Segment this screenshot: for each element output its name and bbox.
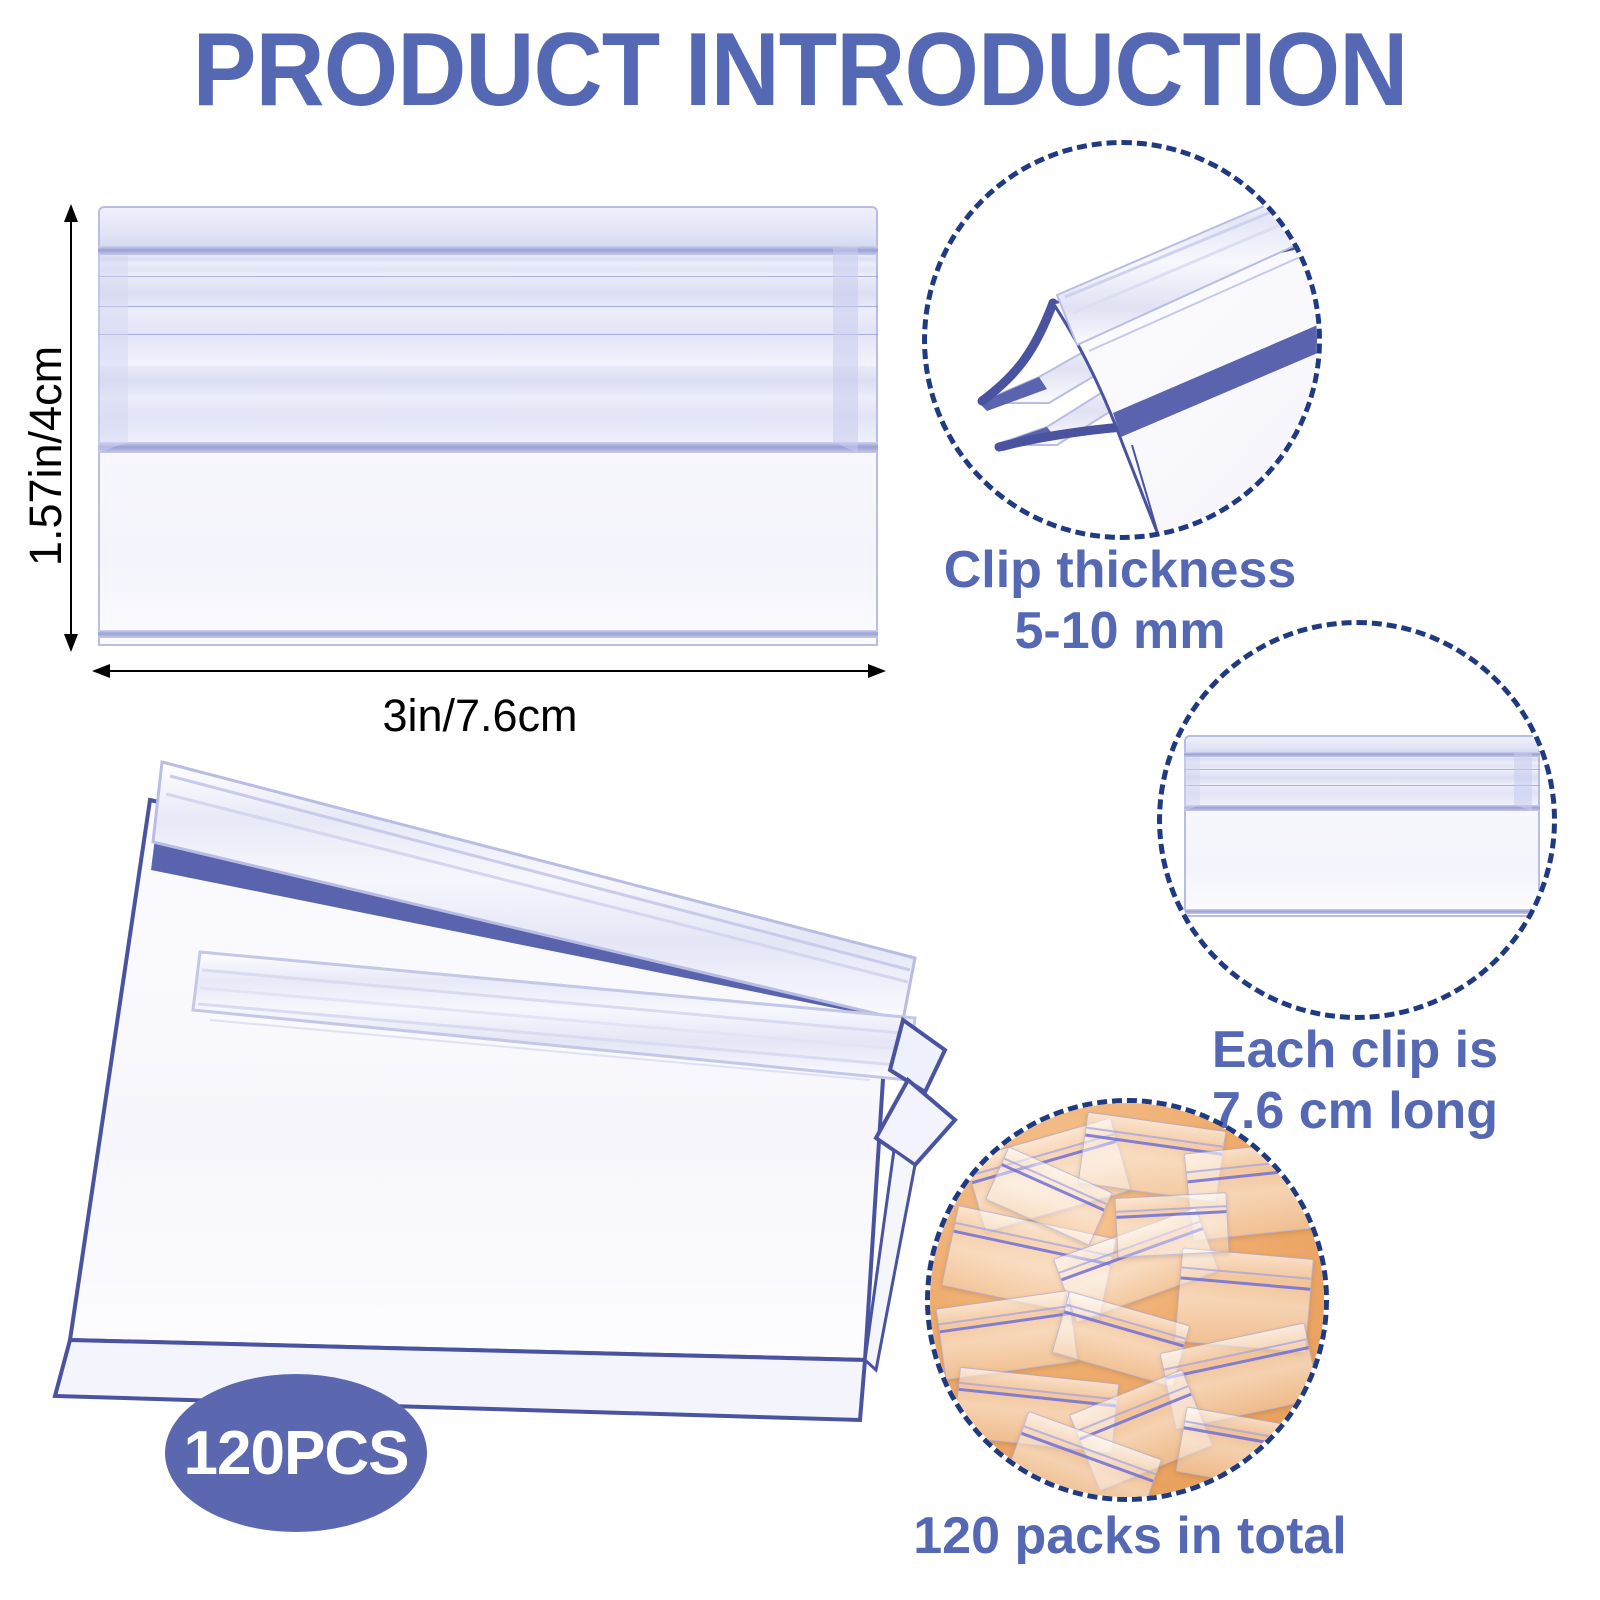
horizontal-dimension-arrow-left: [92, 664, 110, 678]
height-dimension-label: 1.57in/4cm: [20, 306, 72, 606]
product-front-view: [98, 206, 878, 646]
clip-front-view-small: [1184, 735, 1540, 917]
pack-photo: [930, 1103, 1324, 1497]
horizontal-dimension-arrow-right: [868, 664, 886, 678]
callout-circle-pack-total: [925, 1098, 1329, 1502]
clip-bevel-shading: [98, 206, 878, 646]
vertical-dimension-arrow-bottom: [64, 634, 78, 652]
page-title: PRODUCT INTRODUCTION: [64, 14, 1536, 126]
callout-circle-clip-length: [1157, 620, 1557, 1020]
callout-clip-thickness-art: [927, 145, 1317, 535]
clip-jaw-closeup-drawing: [927, 145, 1317, 535]
callout-caption-pack-total: 120 packs in total: [860, 1506, 1400, 1567]
quantity-badge: 120PCS: [165, 1374, 427, 1532]
product-perspective-view: [10, 720, 970, 1480]
product-introduction-infographic: PRODUCT INTRODUCTION 1.57in/4cm 3in/7.6c…: [0, 0, 1600, 1600]
callout-circle-clip-thickness: [922, 140, 1322, 540]
clip-gripper-jaw-upper: [890, 1020, 945, 1092]
clip-gripper-jaw-lower: [876, 1080, 955, 1165]
small-clip-bevel-shading: [1184, 735, 1540, 917]
callout-clip-length-art: [1162, 625, 1552, 1015]
horizontal-dimension-line: [98, 670, 878, 672]
quantity-badge-label: 120PCS: [184, 1418, 409, 1489]
vertical-dimension-arrow-top: [64, 204, 78, 222]
